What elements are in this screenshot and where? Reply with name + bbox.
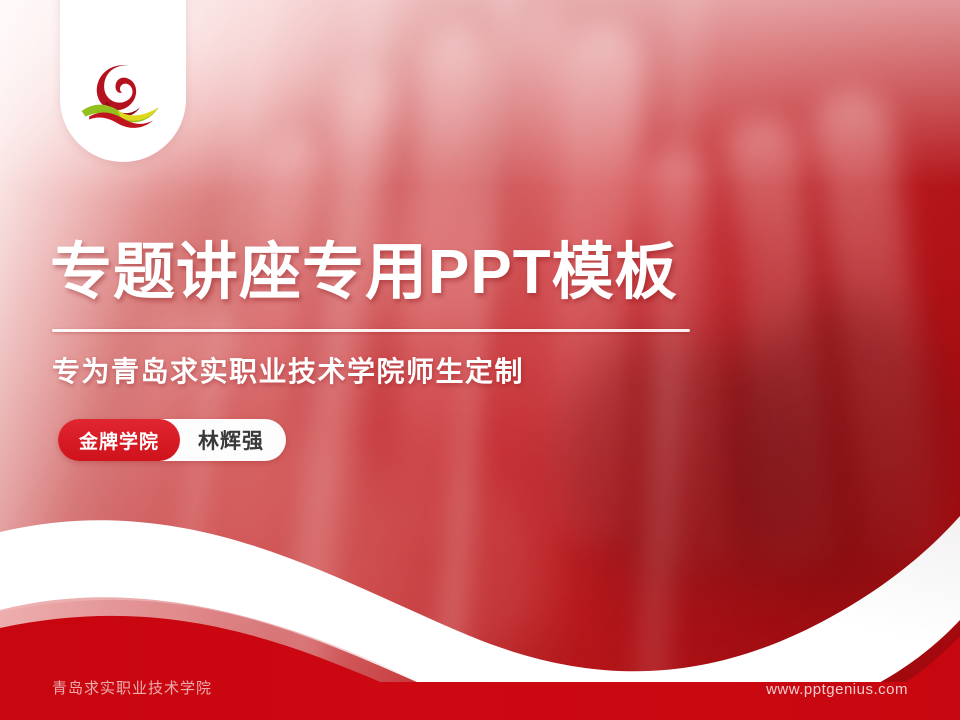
title-divider xyxy=(52,329,690,332)
footer-institution-label: 青岛求实职业技术学院 xyxy=(52,677,212,698)
author-pill-tag: 金牌学院 xyxy=(58,419,180,461)
page-subtitle: 专为青岛求实职业技术学院师生定制 xyxy=(52,350,524,390)
footer-website-link[interactable]: www.pptgenius.com xyxy=(766,681,908,698)
page-title: 专题讲座专用PPT模板 xyxy=(50,240,678,305)
college-logo-icon xyxy=(76,60,170,132)
logo-badge xyxy=(60,0,186,162)
author-pill[interactable]: 金牌学院 林辉强 xyxy=(58,419,286,461)
author-pill-name: 林辉强 xyxy=(180,425,264,455)
presentation-title-slide: 专题讲座专用PPT模板 专为青岛求实职业技术学院师生定制 金牌学院 林辉强 青岛… xyxy=(0,0,960,720)
